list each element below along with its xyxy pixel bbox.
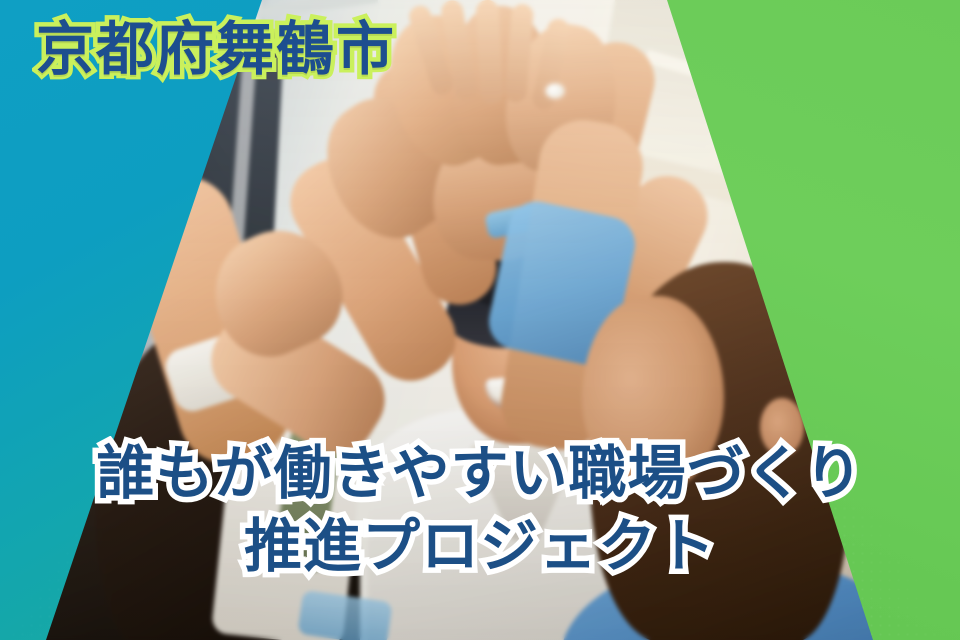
city-title: 京都府舞鶴市 [36,18,396,83]
headline-line-2: 推進プロジェクト [0,513,960,580]
headline-line-1: 誰もが働きやすい職場づくり [0,440,960,507]
ring-highlight [546,84,564,98]
promo-banner: 京都府舞鶴市 誰もが働きやすい職場づくり 推進プロジェクト [0,0,960,640]
headline: 誰もが働きやすい職場づくり 推進プロジェクト [0,440,960,581]
